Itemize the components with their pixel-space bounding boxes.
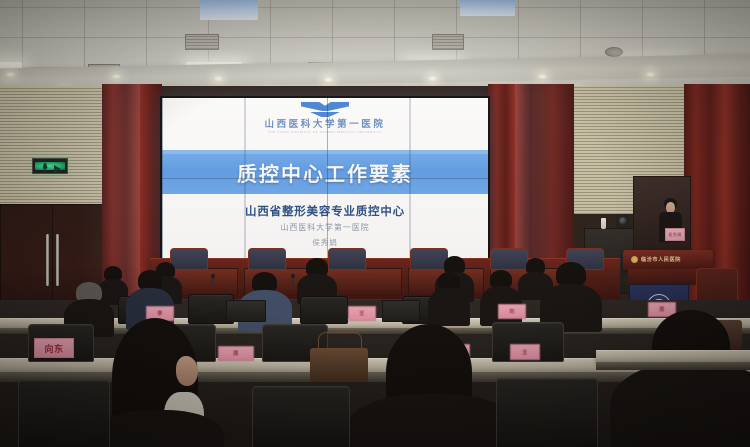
emergency-exit-sign	[32, 158, 68, 174]
wall-slat-panel-left	[0, 86, 104, 206]
door-handle-right[interactable]	[56, 234, 59, 286]
ceiling-vent-4	[432, 34, 464, 50]
ceiling-downlight-1	[6, 72, 15, 77]
conference-hall-scene: 山西医科大学第一医院 THE FIRST HOSPITAL OF SHANXI …	[0, 0, 750, 447]
audience-person-foreground-center	[628, 310, 750, 447]
rostrum-microphone-1	[212, 276, 214, 286]
speaker-at-podium	[655, 198, 685, 256]
hospital-logo-cn-text: 山西医科大学第一医院	[162, 120, 488, 130]
ceiling-smoke-detector	[605, 47, 623, 57]
slide-title: 质控中心工作要素	[162, 158, 488, 187]
exit-sign-face	[35, 162, 66, 171]
podium-emblem-icon	[631, 256, 638, 263]
presentation-video-wall[interactable]: 山西医科大学第一医院 THE FIRST HOSPITAL OF SHANXI …	[160, 96, 490, 264]
rostrum-chair-1[interactable]	[170, 248, 208, 270]
rostrum-chair-2[interactable]	[248, 248, 286, 270]
hospital-logo-en-text: THE FIRST HOSPITAL OF SHANXI MEDICAL UNI…	[162, 130, 488, 134]
laptop-r3-2[interactable]	[382, 300, 420, 322]
foreground-center-shoulders	[610, 362, 750, 447]
ceiling-skylight-2	[460, 0, 515, 16]
slide-subtitle-institution: 山西医科大学第一医院	[162, 222, 488, 233]
ceiling-downlight-5	[428, 76, 437, 81]
water-bottle	[601, 218, 606, 229]
ceiling-vent-2	[185, 34, 219, 50]
ceiling-skylight-1	[200, 0, 258, 20]
audience-person-foreground-right	[356, 324, 516, 447]
foreground-left-shoulders	[92, 410, 224, 447]
rostrum-panel-3	[326, 268, 402, 296]
hospital-logo-mark-icon	[301, 102, 349, 119]
audience-hair	[138, 270, 162, 290]
name-card-r3-2: 王	[348, 306, 376, 321]
ceiling-downlight-4	[324, 77, 333, 82]
ceiling-downlight-2	[112, 74, 121, 79]
audience-hair	[252, 272, 277, 292]
door-handle-left[interactable]	[46, 234, 49, 286]
speaker-name-card: 侯秀娟	[665, 228, 685, 241]
hospital-logo: 山西医科大学第一医院 THE FIRST HOSPITAL OF SHANXI …	[162, 102, 488, 134]
name-card-r3-3: 刘	[498, 304, 526, 319]
presentation-slide: 山西医科大学第一医院 THE FIRST HOSPITAL OF SHANXI …	[162, 98, 488, 262]
foreground-left-face	[176, 356, 198, 386]
audience-chair-r1-3[interactable]	[496, 378, 598, 447]
rostrum-chair-4[interactable]	[410, 248, 448, 270]
slide-subtitle-organization: 山西省整形美容专业质控中心	[162, 203, 488, 219]
audience-hair	[556, 262, 586, 286]
name-card-r2-named: 向东	[34, 338, 74, 358]
rostrum-microphone-2	[292, 276, 294, 286]
camera-lens-icon	[619, 217, 627, 225]
slide-subtitle-presenter: 侯秀娟	[162, 237, 488, 248]
running-man-icon	[43, 163, 48, 172]
arrow-right-icon	[54, 165, 61, 173]
audience-chair-r1-2[interactable]	[252, 386, 350, 447]
audience-shoulders	[428, 288, 470, 326]
ceiling-downlight-6	[538, 74, 547, 79]
ceiling-downlight-3	[214, 76, 223, 81]
audience-chair-r3-3[interactable]	[300, 296, 348, 324]
rostrum-chair-5[interactable]	[490, 248, 528, 270]
podium-sign-text: 临汾市人民医院	[641, 256, 681, 263]
rostrum-chair-3[interactable]	[328, 248, 366, 270]
audience-desk-right-rear-front	[596, 362, 750, 370]
audience-chair-r1-1[interactable]	[18, 380, 110, 447]
ceiling-downlight-7	[646, 72, 655, 77]
